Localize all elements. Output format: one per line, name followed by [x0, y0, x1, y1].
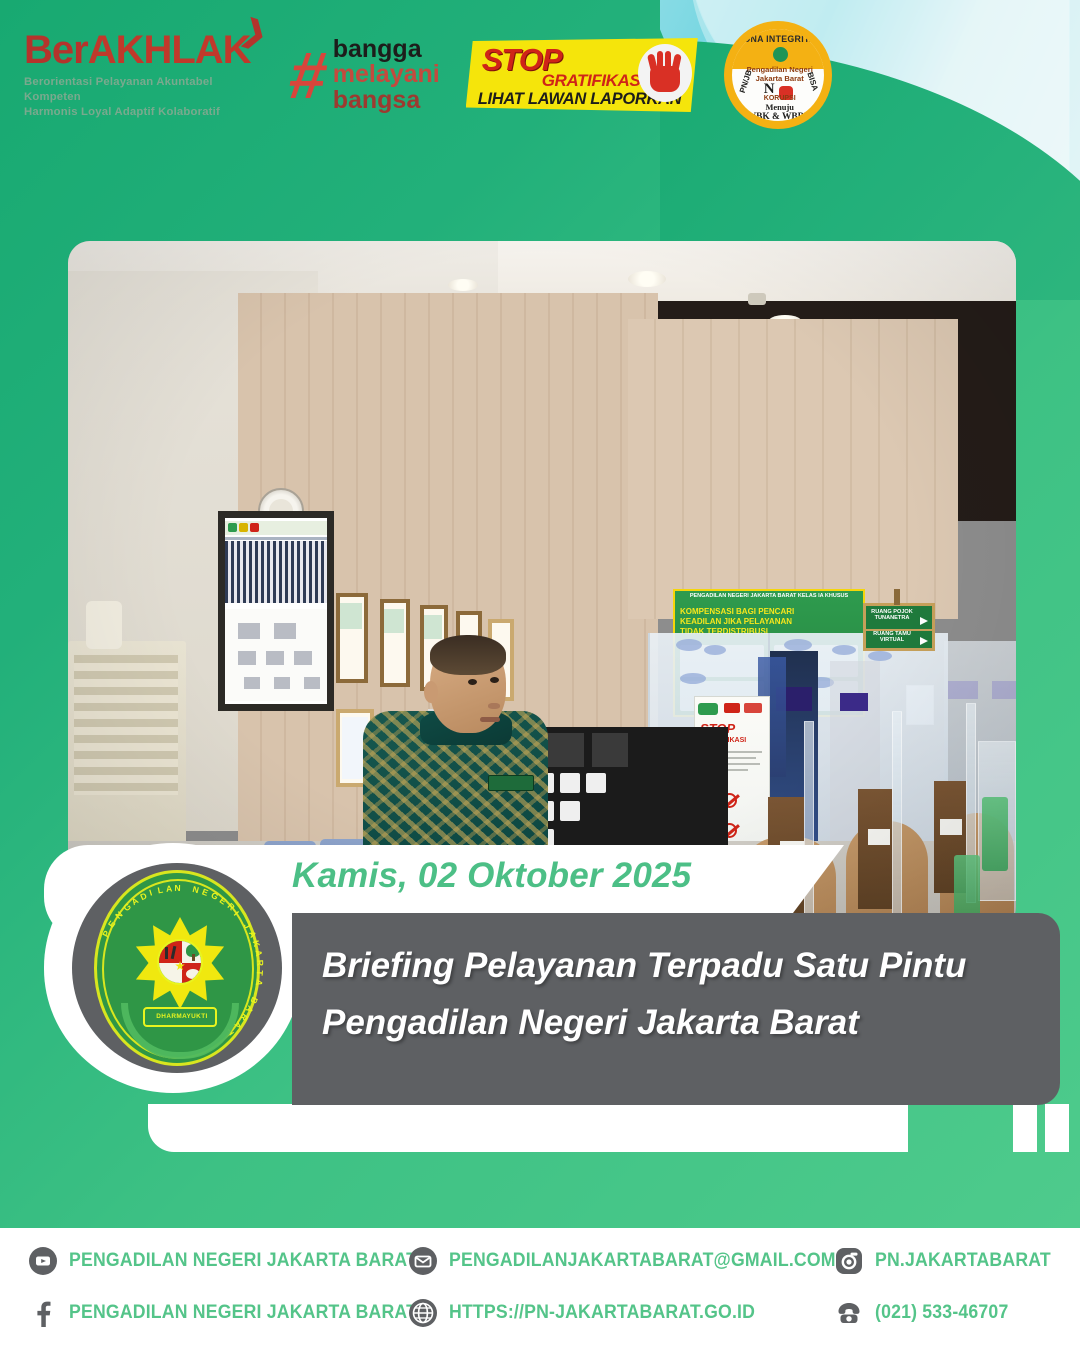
contact-website-label: HTTPS://PN-JAKARTABARAT.GO.ID: [449, 1302, 755, 1324]
contact-email[interactable]: PENGADILANJAKARTABARAT@GMAIL.COM: [408, 1246, 865, 1276]
bangga-line2: melayani: [333, 62, 440, 88]
decorative-bar-2: [1045, 1104, 1069, 1152]
poster-canvas: BerAKHLAK ❯ Berorientasi Pelayanan Akunt…: [0, 0, 1080, 1228]
contact-email-label: PENGADILANJAKARTABARAT@GMAIL.COM: [449, 1250, 836, 1272]
gratifikasi-label: GRATIFIKASI: [542, 71, 645, 91]
seal-motto-text: DHARMAYUKTI: [145, 1013, 219, 1020]
email-icon: [408, 1246, 438, 1276]
seal-motto-ribbon: DHARMAYUKTI: [143, 1007, 217, 1027]
globe-icon: [408, 1298, 438, 1328]
decorative-bar-1: [1013, 1104, 1037, 1152]
berakhlak-logo: BerAKHLAK ❯ Berorientasi Pelayanan Akunt…: [24, 30, 264, 121]
berakhlak-caret-icon: ❯: [238, 15, 270, 51]
contact-facebook[interactable]: PENGADILAN NEGERI JAKARTA BARAT: [28, 1298, 443, 1328]
contact-instagram-label: PN.JAKARTABARAT: [875, 1250, 1051, 1272]
berakhlak-akhlak: AKHLAK: [88, 28, 251, 72]
contact-youtube[interactable]: PENGADILAN NEGERI JAKARTA BARAT: [28, 1246, 443, 1276]
phone-icon: [834, 1298, 864, 1328]
hashtag-icon: #: [286, 49, 330, 102]
footer-contact-bar: PENGADILAN NEGERI JAKARTA BARAT PENGADIL…: [0, 1228, 1080, 1350]
white-bottom-band: [148, 1104, 908, 1152]
zona-integritas-logo: ZONA INTEGRITAS Pengadilan Negeri Jakart…: [724, 21, 832, 129]
court-seal-logo: P E N G A D I L A N N E G E R I J A: [72, 863, 282, 1073]
zona-integritas-arc-text: ZONA INTEGRITAS: [732, 34, 826, 44]
event-title-line2: Pengadilan Negeri Jakarta Barat: [322, 995, 1042, 1052]
contact-phone-label: (021) 533-46707: [875, 1302, 1008, 1324]
instagram-icon: [834, 1246, 864, 1276]
berakhlak-tagline-line2: Harmonis Loyal Adaptif Kolaboratif: [24, 105, 264, 120]
stop-gratifikasi-banner: STOP GRATIFIKASI LIHAT LAWAN LAPORKAN: [466, 38, 698, 112]
contact-youtube-label: PENGADILAN NEGERI JAKARTA BARAT: [69, 1250, 417, 1272]
seal-shield: [157, 939, 203, 985]
berakhlak-tagline-line1: Berorientasi Pelayanan Akuntabel Kompete…: [24, 75, 264, 106]
header-logo-strip: BerAKHLAK ❯ Berorientasi Pelayanan Akunt…: [0, 0, 1080, 150]
zona-korupsi-label: KORUPSI: [732, 95, 826, 102]
facebook-icon: [28, 1298, 58, 1328]
zona-menuju-label: Menuju: [732, 103, 826, 112]
zona-wbk-label: WBK & WBBM: [732, 112, 826, 122]
berakhlak-tagline: Berorientasi Pelayanan Akuntabel Kompete…: [24, 75, 264, 121]
bangga-line1: bangga: [333, 37, 440, 63]
contact-instagram[interactable]: PN.JAKARTABARAT: [834, 1246, 1064, 1276]
mini-court-seal-icon: [772, 46, 789, 63]
contact-facebook-label: PENGADILAN NEGERI JAKARTA BARAT: [69, 1302, 417, 1324]
red-hand-icon: [638, 44, 692, 102]
event-title-line1: Briefing Pelayanan Terpadu Satu Pintu: [322, 938, 1042, 995]
contact-website[interactable]: HTTPS://PN-JAKARTABARAT.GO.ID: [408, 1298, 778, 1328]
bangga-melayani-bangsa-logo: # bangga melayani bangsa: [290, 37, 440, 114]
contact-phone[interactable]: (021) 533-46707: [834, 1298, 1019, 1328]
bangga-line3: bangsa: [333, 88, 440, 114]
event-title: Briefing Pelayanan Terpadu Satu Pintu Pe…: [322, 938, 1042, 1051]
berakhlak-wordmark: BerAKHLAK ❯: [24, 30, 251, 70]
event-date: Kamis, 02 Oktober 2025: [292, 856, 691, 896]
youtube-icon: [28, 1246, 58, 1276]
berakhlak-ber: Ber: [24, 28, 88, 72]
event-photo: PENGADILAN NEGERI JAKARTA BARAT KELAS IA…: [68, 241, 1016, 929]
